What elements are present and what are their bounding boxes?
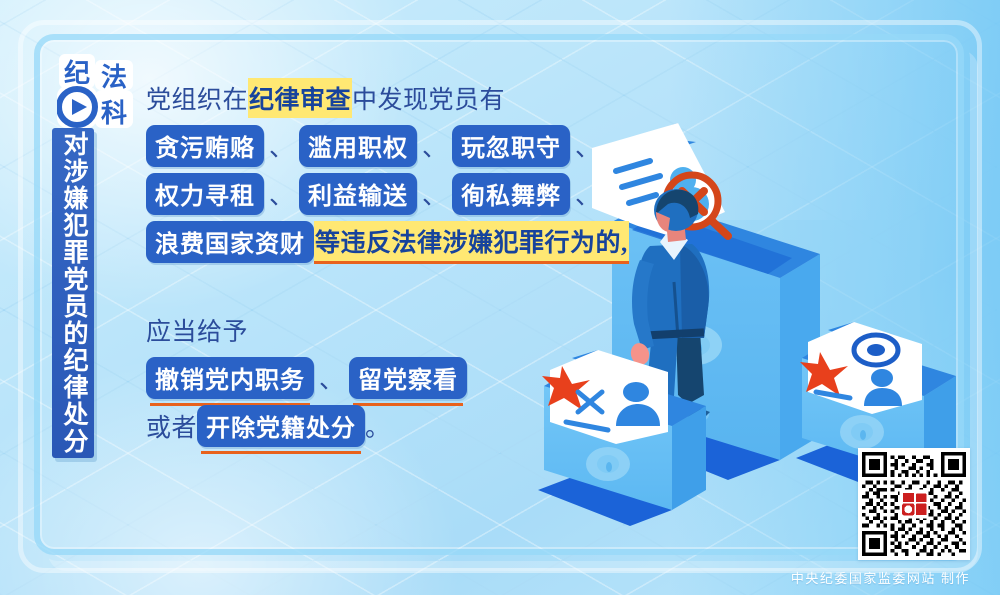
tag-waste-state-assets: 浪费国家资财 [146,221,314,263]
tag-benefit-transfer: 利益输送 [299,173,417,215]
tag-favoritism-fraud: 徇私舞弊 [452,173,570,215]
separator: 、 [314,360,349,396]
spacer [146,272,666,312]
highlight-criminal-conduct: 等违反法律涉嫌犯罪行为的, [314,221,629,264]
separator: 、 [570,128,605,164]
text-segment: 中发现党员有 [352,80,505,116]
separator: 、 [570,176,605,212]
tag-power-rent-seeking: 权力寻租 [146,173,264,215]
text-line-4: 浪费国家资财 等违反法律涉嫌犯罪行为的, [146,224,666,260]
text-segment-period: 。 [365,408,391,444]
jifa-baike-logo: 纪 法 科 [57,52,135,132]
logo-char-ke: 科 [101,99,127,128]
credit-text: 中央纪委国家监委网站 制作 [791,568,970,587]
separator: 、 [417,128,452,164]
text-segment-should-give: 应当给予 [146,312,248,348]
text-line-1: 党组织在 纪律审查 中发现党员有 [146,80,666,116]
text-segment-or: 或者 [146,408,197,444]
highlight-discipline-review: 纪律审查 [248,78,352,118]
infographic-poster: 纪 法 科 对涉嫌犯罪党员的纪律处分 党组织在 纪律审查 中发现党员有 贪污贿赂… [0,0,1000,595]
logo-char-fa: 法 [101,63,127,92]
vertical-title-text: 对涉嫌犯罪党员的纪律处分 [59,131,87,455]
tag-expulsion-from-party: 开除党籍处分 [197,405,365,447]
separator: 、 [264,176,299,212]
text-line-5: 应当给予 [146,312,666,348]
text-line-7: 或者 开除党籍处分 。 [146,408,666,444]
tag-probation-within-party: 留党察看 [349,357,467,399]
logo-char-ji: 纪 [64,58,90,88]
tag-abuse-of-power: 滥用职权 [299,125,417,167]
text-line-6-tags: 撤销党内职务 、 留党察看 [146,360,666,396]
tag-removal-from-party-post: 撤销党内职务 [146,357,314,399]
qr-code[interactable] [858,448,970,560]
text-line-3-tags: 权力寻租 、 利益输送 、 徇私舞弊 、 [146,176,666,212]
vertical-title-bar: 对涉嫌犯罪党员的纪律处分 [52,128,94,458]
tag-corruption-bribery: 贪污贿赂 [146,125,264,167]
text-line-2-tags: 贪污贿赂 、 滥用职权 、 玩忽职守 、 [146,128,666,164]
separator: 、 [264,128,299,164]
body-text-column: 党组织在 纪律审查 中发现党员有 贪污贿赂 、 滥用职权 、 玩忽职守 、 权力… [146,80,666,456]
tag-dereliction-of-duty: 玩忽职守 [452,125,570,167]
text-segment: 党组织在 [146,80,248,116]
separator: 、 [417,176,452,212]
